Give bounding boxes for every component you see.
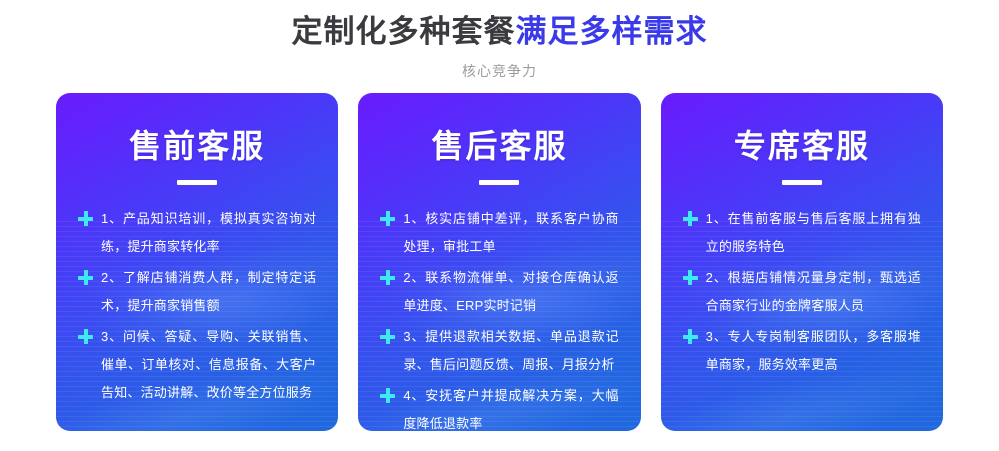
plus-icon	[683, 211, 698, 226]
list-item-text: 3、提供退款相关数据、单品退款记录、售后问题反馈、周报、月报分析	[403, 323, 618, 379]
service-card-list: 售前客服 1、产品知识培训，模拟真实咨询对练，提升商家转化率 2、了解店铺消费人…	[56, 93, 943, 431]
list-item-text: 2、了解店铺消费人群，制定特定话术，提升商家销售额	[101, 264, 316, 320]
plus-icon	[78, 329, 93, 344]
plus-icon	[683, 270, 698, 285]
list-item: 4、安抚客户并提成解决方案，大幅度降低退款率	[380, 382, 618, 431]
list-item-text: 3、问候、答疑、导购、关联销售、催单、订单核对、信息报备、大客户告知、活动讲解、…	[101, 323, 316, 407]
card-bullet-list: 1、核实店铺中差评，联系客户协商处理，审批工单 2、联系物流催单、对接仓库确认返…	[380, 205, 618, 431]
list-item-text: 2、联系物流催单、对接仓库确认返单进度、ERP实时记销	[403, 264, 618, 320]
service-card-dedicated[interactable]: 专席客服 1、在售前客服与售后客服上拥有独立的服务特色 2、根据店铺情况量身定制…	[661, 93, 943, 431]
title-underline-rule	[177, 180, 217, 185]
page-title: 定制化多种套餐满足多样需求	[0, 10, 999, 54]
title-underline-rule	[782, 180, 822, 185]
list-item-text: 2、根据店铺情况量身定制，甄选适合商家行业的金牌客服人员	[706, 264, 921, 320]
title-underline-rule	[479, 180, 519, 185]
list-item: 3、提供退款相关数据、单品退款记录、售后问题反馈、周报、月报分析	[380, 323, 618, 379]
list-item: 1、产品知识培训，模拟真实咨询对练，提升商家转化率	[78, 205, 316, 261]
list-item: 2、联系物流催单、对接仓库确认返单进度、ERP实时记销	[380, 264, 618, 320]
plus-icon	[380, 211, 395, 226]
page-title-primary: 定制化多种套餐	[292, 14, 516, 49]
page-title-accent: 满足多样需求	[516, 14, 708, 49]
plus-icon	[380, 270, 395, 285]
list-item-text: 4、安抚客户并提成解决方案，大幅度降低退款率	[403, 382, 618, 431]
list-item-text: 1、产品知识培训，模拟真实咨询对练，提升商家转化率	[101, 205, 316, 261]
list-item: 2、了解店铺消费人群，制定特定话术，提升商家销售额	[78, 264, 316, 320]
card-bullet-list: 1、在售前客服与售后客服上拥有独立的服务特色 2、根据店铺情况量身定制，甄选适合…	[683, 205, 921, 379]
list-item: 1、在售前客服与售后客服上拥有独立的服务特色	[683, 205, 921, 261]
card-bullet-list: 1、产品知识培训，模拟真实咨询对练，提升商家转化率 2、了解店铺消费人群，制定特…	[78, 205, 316, 407]
list-item-text: 1、核实店铺中差评，联系客户协商处理，审批工单	[403, 205, 618, 261]
card-title: 售前客服	[78, 126, 316, 166]
service-card-presale[interactable]: 售前客服 1、产品知识培训，模拟真实咨询对练，提升商家转化率 2、了解店铺消费人…	[56, 93, 338, 431]
plus-icon	[78, 211, 93, 226]
list-item: 1、核实店铺中差评，联系客户协商处理，审批工单	[380, 205, 618, 261]
list-item-text: 1、在售前客服与售后客服上拥有独立的服务特色	[706, 205, 921, 261]
card-title: 售后客服	[380, 126, 618, 166]
plus-icon	[380, 388, 395, 403]
plus-icon	[683, 329, 698, 344]
card-title: 专席客服	[683, 126, 921, 166]
page-header: 定制化多种套餐满足多样需求 核心竞争力	[0, 0, 999, 81]
plus-icon	[380, 329, 395, 344]
list-item: 3、专人专岗制客服团队，多客服堆单商家，服务效率更高	[683, 323, 921, 379]
list-item: 3、问候、答疑、导购、关联销售、催单、订单核对、信息报备、大客户告知、活动讲解、…	[78, 323, 316, 407]
service-card-aftersale[interactable]: 售后客服 1、核实店铺中差评，联系客户协商处理，审批工单 2、联系物流催单、对接…	[358, 93, 640, 431]
page-subtitle: 核心竞争力	[0, 61, 999, 81]
list-item-text: 3、专人专岗制客服团队，多客服堆单商家，服务效率更高	[706, 323, 921, 379]
list-item: 2、根据店铺情况量身定制，甄选适合商家行业的金牌客服人员	[683, 264, 921, 320]
plus-icon	[78, 270, 93, 285]
